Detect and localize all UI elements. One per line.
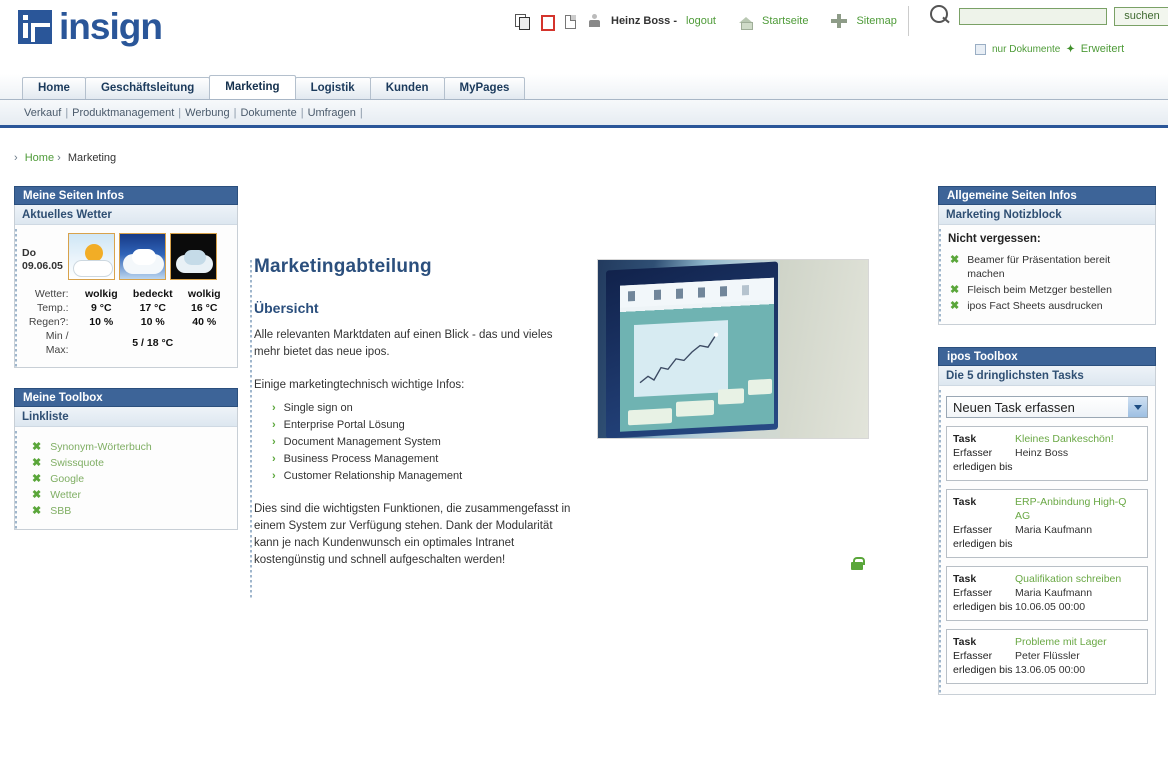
weather-row-label: Temp.: [22, 301, 76, 315]
new-task-select-value: Neuen Task erfassen [953, 400, 1075, 415]
magnifier-icon [928, 4, 952, 28]
task-due [1015, 460, 1141, 474]
brand-logo[interactable]: insign [18, 10, 162, 44]
weather-table: Wetter: wolkig bedeckt wolkig Temp.: 9 °… [22, 287, 230, 357]
bullet-x-icon: ✖ [32, 506, 41, 517]
breadcrumb-arrow-1: › [14, 152, 18, 164]
right-panel-title: Allgemeine Seiten Infos [938, 186, 1156, 205]
task-title: Probleme mit Lager [1015, 635, 1141, 649]
link-synonym[interactable]: Synonym-Wörterbuch [50, 441, 152, 453]
tasks-box-title: Die 5 dringlichsten Tasks [939, 366, 1155, 386]
arrow-right-icon: › [272, 468, 276, 485]
weather-row-label: Wetter: [22, 287, 76, 301]
tab-mypages[interactable]: MyPages [444, 77, 526, 99]
bullet-x-icon: ✖ [32, 474, 41, 485]
left-panel-title: Meine Seiten Infos [14, 186, 238, 205]
tab-kunden[interactable]: Kunden [370, 77, 445, 99]
task-title: ERP-Anbindung High-Q AG [1015, 495, 1141, 523]
bullet-x-icon: ✖ [950, 301, 959, 312]
lock-icon [851, 557, 863, 570]
task-card[interactable]: TaskProbleme mit Lager ErfasserPeter Flü… [946, 629, 1148, 684]
list-item: ✖Synonym-Wörterbuch [22, 439, 230, 455]
table-row: Regen?: 10 % 10 % 40 % [22, 315, 230, 329]
list-item: ✖Wetter [22, 487, 230, 503]
left-sidebar: Meine Seiten Infos Aktuelles Wetter Do 0… [14, 186, 238, 530]
weather-icons [68, 233, 217, 280]
document-icon[interactable] [563, 13, 578, 30]
task-due [1015, 537, 1141, 551]
features-lead: Einige marketingtechnisch wichtige Infos… [254, 377, 574, 394]
weather-date: Do 09.06.05 [22, 233, 68, 273]
task-due: 13.06.05 00:00 [1015, 663, 1141, 677]
link-swissquote[interactable]: Swissquote [50, 457, 104, 469]
advanced-search-link[interactable]: Erweitert [1081, 43, 1124, 55]
list-item: ✖Beamer für Präsentation bereit machen [950, 252, 1148, 282]
tasks-panel: Die 5 dringlichsten Tasks Neuen Task erf… [938, 366, 1156, 695]
minmax-value: 5 / 18 °C [76, 329, 230, 357]
sitemap-icon[interactable] [831, 14, 847, 29]
linkliste-panel: Linkliste ✖Synonym-Wörterbuch ✖Swissquot… [14, 407, 238, 530]
dashed-rule [250, 260, 252, 600]
pdf-icon[interactable] [539, 13, 554, 30]
user-icon[interactable] [587, 13, 602, 30]
sitemap-link[interactable]: Sitemap [856, 15, 896, 27]
brand-name: insign [59, 10, 162, 44]
table-row: Min / 5 / 18 °C [22, 329, 230, 343]
notepad-heading: Nicht vergessen: [948, 233, 1148, 245]
toolbox-panel-title: Meine Toolbox [14, 388, 238, 407]
arrow-right-icon: › [272, 434, 276, 451]
task-author: Maria Kaufmann [1015, 523, 1141, 537]
list-item: ✖SBB [22, 503, 230, 519]
search-input[interactable] [959, 8, 1107, 25]
minmax-label-1: Min / [22, 329, 76, 343]
task-author: Peter Flüssler [1015, 649, 1141, 663]
minmax-label-2: Max: [22, 343, 76, 357]
right-sidebar: Allgemeine Seiten Infos Marketing Notizb… [938, 186, 1156, 695]
breadcrumb-current: Marketing [68, 152, 116, 164]
search-options: nur Dokumente ✦ Erweitert [975, 43, 1124, 55]
outro-paragraph: Dies sind die wichtigsten Funktionen, di… [254, 501, 574, 569]
page-root: insign Heinz Boss - logout Startseite Si… [0, 0, 1168, 778]
search-button[interactable]: suchen [1114, 7, 1168, 26]
dashed-rule [15, 431, 17, 529]
tab-home[interactable]: Home [22, 77, 86, 99]
current-user-label: Heinz Boss - [611, 15, 677, 27]
new-task-select[interactable]: Neuen Task erfassen [946, 396, 1148, 418]
task-author-label: Erfasser [953, 523, 1015, 537]
ipos-toolbox-panel-title: ipos Toolbox [938, 347, 1156, 366]
chevron-down-icon[interactable] [1128, 397, 1147, 417]
dashed-rule [15, 229, 17, 367]
bullet-x-icon: ✖ [950, 285, 959, 296]
link-list: ✖Synonym-Wörterbuch ✖Swissquote ✖Google … [22, 439, 230, 519]
task-author-label: Erfasser [953, 446, 1015, 460]
plus-icon: ✦ [1066, 44, 1074, 55]
dashed-rule [939, 390, 941, 694]
arrow-right-icon: › [272, 400, 276, 417]
weather-panel: Aktuelles Wetter Do 09.06.05 [14, 205, 238, 368]
tab-geschaeftsleitung[interactable]: Geschäftsleitung [85, 77, 210, 99]
task-label: Task [953, 635, 1015, 649]
task-due-label: erledigen bis [953, 537, 1015, 551]
notepad-box-title: Marketing Notizblock [939, 205, 1155, 225]
bullet-x-icon: ✖ [950, 255, 959, 266]
task-due-label: erledigen bis [953, 460, 1015, 474]
notepad-list: ✖Beamer für Präsentation bereit machen ✖… [946, 252, 1148, 314]
dashed-rule [939, 229, 941, 324]
task-label: Task [953, 495, 1015, 523]
startseite-link[interactable]: Startseite [762, 15, 808, 27]
table-row: Temp.: 9 °C 17 °C 16 °C [22, 301, 230, 315]
task-due-label: erledigen bis [953, 600, 1015, 614]
tab-marketing[interactable]: Marketing [209, 75, 295, 99]
subnav-item-werbung[interactable]: Werbung [185, 107, 229, 119]
task-author: Maria Kaufmann [1015, 586, 1141, 600]
only-documents-label: nur Dokumente [992, 44, 1060, 55]
home-icon[interactable] [739, 14, 753, 28]
arrow-right-icon: › [272, 417, 276, 434]
bullet-x-icon: ✖ [32, 490, 41, 501]
list-item: ✖Swissquote [22, 455, 230, 471]
search-area: suchen [928, 4, 1168, 28]
task-author-label: Erfasser [953, 586, 1015, 600]
task-title: Kleines Dankeschön! [1015, 432, 1141, 446]
link-google[interactable]: Google [50, 473, 84, 485]
page-header: insign Heinz Boss - logout Startseite Si… [0, 0, 1168, 70]
sun-cloud-icon [68, 233, 115, 280]
insign-logo-icon [18, 10, 52, 44]
bullet-x-icon: ✖ [32, 458, 41, 469]
link-wetter[interactable]: Wetter [50, 489, 81, 501]
arrow-right-icon: › [272, 451, 276, 468]
table-row: Wetter: wolkig bedeckt wolkig [22, 287, 230, 301]
weather-box-title: Aktuelles Wetter [15, 205, 237, 225]
subnav-item-produktmanagement[interactable]: Produktmanagement [72, 107, 174, 119]
only-documents-checkbox[interactable] [975, 44, 986, 55]
intro-paragraph: Alle relevanten Marktdaten auf einen Bli… [254, 327, 574, 361]
task-title: Qualifikation schreiben [1015, 572, 1141, 586]
task-author-label: Erfasser [953, 649, 1015, 663]
task-due: 10.06.05 00:00 [1015, 600, 1141, 614]
task-card[interactable]: TaskERP-Anbindung High-Q AG ErfasserMari… [946, 489, 1148, 558]
navigation: Home Geschäftsleitung Marketing Logistik… [0, 74, 1168, 128]
list-item: ✖ipos Fact Sheets ausdrucken [950, 298, 1148, 314]
list-item: ›Customer Relationship Management [272, 468, 920, 485]
breadcrumb: › Home › Marketing [14, 152, 116, 164]
list-item: ✖Google [22, 471, 230, 487]
task-card[interactable]: TaskQualifikation schreiben ErfasserMari… [946, 566, 1148, 621]
linkliste-box-title: Linkliste [15, 407, 237, 427]
task-label: Task [953, 432, 1015, 446]
task-label: Task [953, 572, 1015, 586]
subnav-item-umfragen[interactable]: Umfragen [308, 107, 356, 119]
notepad-panel: Marketing Notizblock Nicht vergessen: ✖B… [938, 205, 1156, 325]
header-divider [908, 6, 909, 36]
logout-link[interactable]: logout [686, 15, 716, 27]
bullet-x-icon: ✖ [32, 442, 41, 453]
night-cloud-icon [170, 233, 217, 280]
sub-navigation: Verkauf| Produktmanagement| Werbung| Dok… [0, 100, 1168, 128]
breadcrumb-home[interactable]: Home [25, 152, 54, 164]
main-tabs: Home Geschäftsleitung Marketing Logistik… [0, 74, 1168, 100]
subnav-item-dokumente[interactable]: Dokumente [240, 107, 296, 119]
weather-row-label: Regen?: [22, 315, 76, 329]
task-due-label: erledigen bis [953, 663, 1015, 677]
link-sbb[interactable]: SBB [50, 505, 71, 517]
copy-icon[interactable] [515, 13, 530, 30]
list-item: ✖Fleisch beim Metzger bestellen [950, 282, 1148, 298]
subnav-item-verkauf[interactable]: Verkauf [24, 107, 61, 119]
header-toolbar: Heinz Boss - logout Startseite Sitemap [515, 6, 911, 36]
monitor-photo [597, 259, 869, 439]
task-card[interactable]: TaskKleines Dankeschön! ErfasserHeinz Bo… [946, 426, 1148, 481]
task-author: Heinz Boss [1015, 446, 1141, 460]
cloudy-icon [119, 233, 166, 280]
breadcrumb-arrow-2: › [57, 152, 61, 164]
list-item: ›Business Process Management [272, 451, 920, 468]
tab-logistik[interactable]: Logistik [295, 77, 371, 99]
